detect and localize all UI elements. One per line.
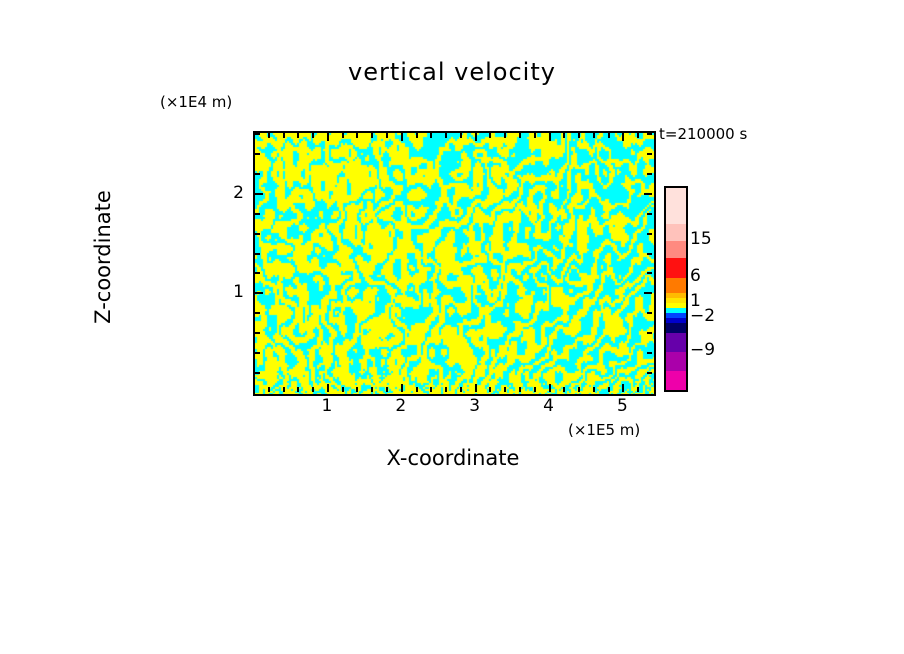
- tick-mark: [489, 133, 491, 138]
- tick-mark: [401, 384, 403, 392]
- tick-mark: [416, 133, 418, 138]
- y-axis-title: Z-coordinate: [91, 142, 115, 372]
- tick-mark: [445, 387, 447, 392]
- x-tick-label: 2: [395, 396, 406, 416]
- tick-mark: [430, 133, 432, 138]
- x-axis-title: X-coordinate: [253, 446, 653, 470]
- colorbar-band: [666, 258, 686, 278]
- tick-mark: [430, 387, 432, 392]
- x-tick-label: 4: [543, 396, 554, 416]
- x-tick-label: 3: [469, 396, 480, 416]
- tick-mark: [647, 272, 652, 274]
- tick-mark: [647, 133, 652, 135]
- x-unit-label: (×1E5 m): [568, 421, 640, 439]
- tick-mark: [644, 292, 652, 294]
- tick-mark: [445, 133, 447, 138]
- tick-mark: [460, 133, 462, 138]
- tick-mark: [549, 384, 551, 392]
- tick-mark: [297, 133, 299, 138]
- colorbar-band: [666, 371, 686, 390]
- tick-mark: [647, 253, 652, 255]
- tick-mark: [283, 133, 285, 138]
- tick-mark: [647, 173, 652, 175]
- tick-mark: [327, 133, 329, 141]
- tick-mark: [312, 133, 314, 138]
- tick-mark: [519, 387, 521, 392]
- colorbar-band: [666, 224, 686, 241]
- tick-mark: [255, 173, 260, 175]
- tick-mark: [647, 153, 652, 155]
- tick-mark: [255, 332, 260, 334]
- vertical-velocity-plot: vertical velocity (×1E4 m) (×1E5 m) t=21…: [0, 0, 904, 654]
- tick-mark: [563, 387, 565, 392]
- tick-mark: [644, 193, 652, 195]
- tick-mark: [504, 387, 506, 392]
- tick-mark: [255, 233, 260, 235]
- tick-mark: [255, 292, 263, 294]
- tick-mark: [647, 332, 652, 334]
- colorbar-tick-label: 6: [690, 266, 701, 286]
- tick-mark: [371, 387, 373, 392]
- time-annotation: t=210000 s: [659, 125, 747, 143]
- tick-mark: [255, 253, 260, 255]
- tick-mark: [647, 312, 652, 314]
- tick-mark: [342, 387, 344, 392]
- tick-mark: [268, 133, 270, 138]
- tick-mark: [647, 213, 652, 215]
- tick-mark: [460, 387, 462, 392]
- tick-mark: [489, 387, 491, 392]
- tick-mark: [593, 133, 595, 138]
- colorbar-tick-label: −9: [690, 340, 715, 360]
- tick-mark: [327, 384, 329, 392]
- x-tick-label: 5: [617, 396, 628, 416]
- tick-mark: [475, 384, 477, 392]
- x-tick-label: 1: [321, 396, 332, 416]
- tick-mark: [297, 387, 299, 392]
- tick-mark: [255, 312, 260, 314]
- colorbar-band: [666, 352, 686, 371]
- tick-mark: [268, 387, 270, 392]
- tick-mark: [356, 133, 358, 138]
- colorbar-band: [666, 188, 686, 224]
- tick-mark: [622, 133, 624, 141]
- tick-mark: [593, 387, 595, 392]
- tick-mark: [563, 133, 565, 138]
- tick-mark: [255, 133, 260, 135]
- y-unit-label: (×1E4 m): [160, 93, 232, 111]
- tick-mark: [637, 387, 639, 392]
- tick-mark: [647, 233, 652, 235]
- tick-mark: [386, 387, 388, 392]
- tick-mark: [255, 213, 260, 215]
- tick-mark: [637, 133, 639, 138]
- y-tick-label: 2: [214, 183, 244, 203]
- tick-mark: [549, 133, 551, 141]
- tick-mark: [608, 133, 610, 138]
- tick-mark: [647, 352, 652, 354]
- tick-mark: [255, 352, 260, 354]
- tick-mark: [255, 272, 260, 274]
- tick-mark: [356, 387, 358, 392]
- tick-mark: [255, 153, 260, 155]
- tick-mark: [416, 387, 418, 392]
- tick-mark: [504, 133, 506, 138]
- colorbar: [664, 186, 688, 392]
- plot-area: [253, 131, 656, 396]
- colorbar-band: [666, 278, 686, 293]
- colorbar-tick-label: −2: [690, 306, 715, 326]
- tick-mark: [578, 387, 580, 392]
- y-tick-label: 1: [214, 282, 244, 302]
- velocity-field-image: [255, 133, 654, 394]
- tick-mark: [401, 133, 403, 141]
- tick-mark: [519, 133, 521, 138]
- tick-mark: [608, 387, 610, 392]
- tick-mark: [255, 193, 263, 195]
- tick-mark: [534, 387, 536, 392]
- tick-mark: [578, 133, 580, 138]
- tick-mark: [342, 133, 344, 138]
- tick-mark: [255, 372, 260, 374]
- colorbar-band: [666, 241, 686, 258]
- tick-mark: [622, 384, 624, 392]
- colorbar-band: [666, 333, 686, 352]
- tick-mark: [647, 372, 652, 374]
- tick-mark: [371, 133, 373, 138]
- colorbar-band: [666, 323, 686, 333]
- page-title: vertical velocity: [0, 58, 904, 86]
- tick-mark: [386, 133, 388, 138]
- tick-mark: [283, 387, 285, 392]
- tick-mark: [312, 387, 314, 392]
- colorbar-tick-label: 15: [690, 229, 712, 249]
- tick-mark: [534, 133, 536, 138]
- tick-mark: [475, 133, 477, 141]
